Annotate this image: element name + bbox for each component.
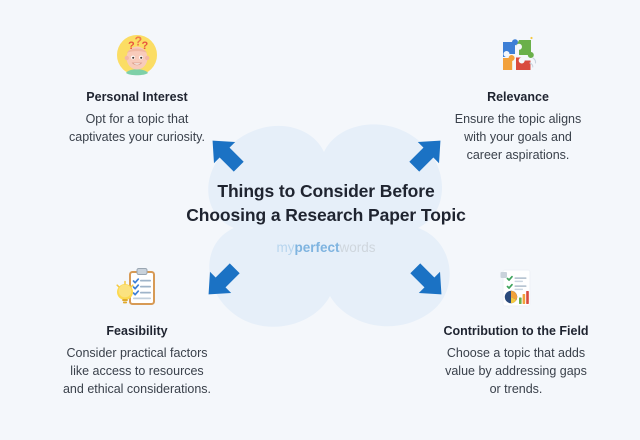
- card-desc-line: Opt for a topic that: [86, 112, 189, 126]
- card-desc-line: Choose a topic that adds: [447, 346, 585, 360]
- thinking-face-question-marks-icon: ? ? ?: [110, 28, 164, 82]
- card-relevance: Relevance Ensure the topic aligns with y…: [418, 28, 618, 164]
- card-desc-line: Ensure the topic aligns: [455, 112, 581, 126]
- card-title-personal-interest: Personal Interest: [37, 90, 237, 105]
- brand-logo-my: my: [276, 240, 294, 255]
- card-feasibility: Feasibility Consider practical factors l…: [37, 262, 237, 398]
- report-chart-document-icon: [489, 262, 543, 316]
- card-contribution-to-the-field: Contribution to the Field Choose a topic…: [416, 262, 616, 398]
- brand-logo: myperfectwords: [170, 241, 482, 255]
- page-title-line-2: Choosing a Research Paper Topic: [186, 205, 466, 225]
- brand-logo-words: words: [340, 240, 376, 255]
- card-desc-feasibility: Consider practical factors like access t…: [37, 344, 237, 398]
- brand-logo-perfect: perfect: [294, 240, 339, 255]
- card-desc-line: captivates your curiosity.: [69, 130, 205, 144]
- card-desc-line: Consider practical factors: [66, 346, 207, 360]
- card-desc-line: like access to resources: [70, 364, 203, 378]
- card-personal-interest: ? ? ? Personal Interest Opt for a topic …: [37, 28, 237, 146]
- card-desc-line: and ethical considerations.: [63, 382, 211, 396]
- card-desc-contribution-to-the-field: Choose a topic that adds value by addres…: [416, 344, 616, 398]
- card-title-contribution-to-the-field: Contribution to the Field: [416, 324, 616, 339]
- puzzle-pieces-icon: [491, 28, 545, 82]
- svg-text:?: ?: [142, 40, 149, 52]
- card-title-feasibility: Feasibility: [37, 324, 237, 339]
- card-desc-relevance: Ensure the topic aligns with your goals …: [418, 110, 618, 164]
- infographic-canvas: Things to Consider Before Choosing a Res…: [0, 0, 640, 440]
- card-desc-line: value by addressing gaps: [445, 364, 587, 378]
- card-desc-line: or trends.: [490, 382, 543, 396]
- center-text-block: Things to Consider Before Choosing a Res…: [170, 180, 482, 255]
- card-desc-line: with your goals and: [464, 130, 572, 144]
- card-desc-personal-interest: Opt for a topic that captivates your cur…: [37, 110, 237, 146]
- card-title-relevance: Relevance: [418, 90, 618, 105]
- clipboard-checklist-lightbulb-icon: [110, 262, 164, 316]
- page-title-line-1: Things to Consider Before: [217, 181, 434, 201]
- card-desc-line: career aspirations.: [467, 148, 570, 162]
- page-title: Things to Consider Before Choosing a Res…: [170, 180, 482, 227]
